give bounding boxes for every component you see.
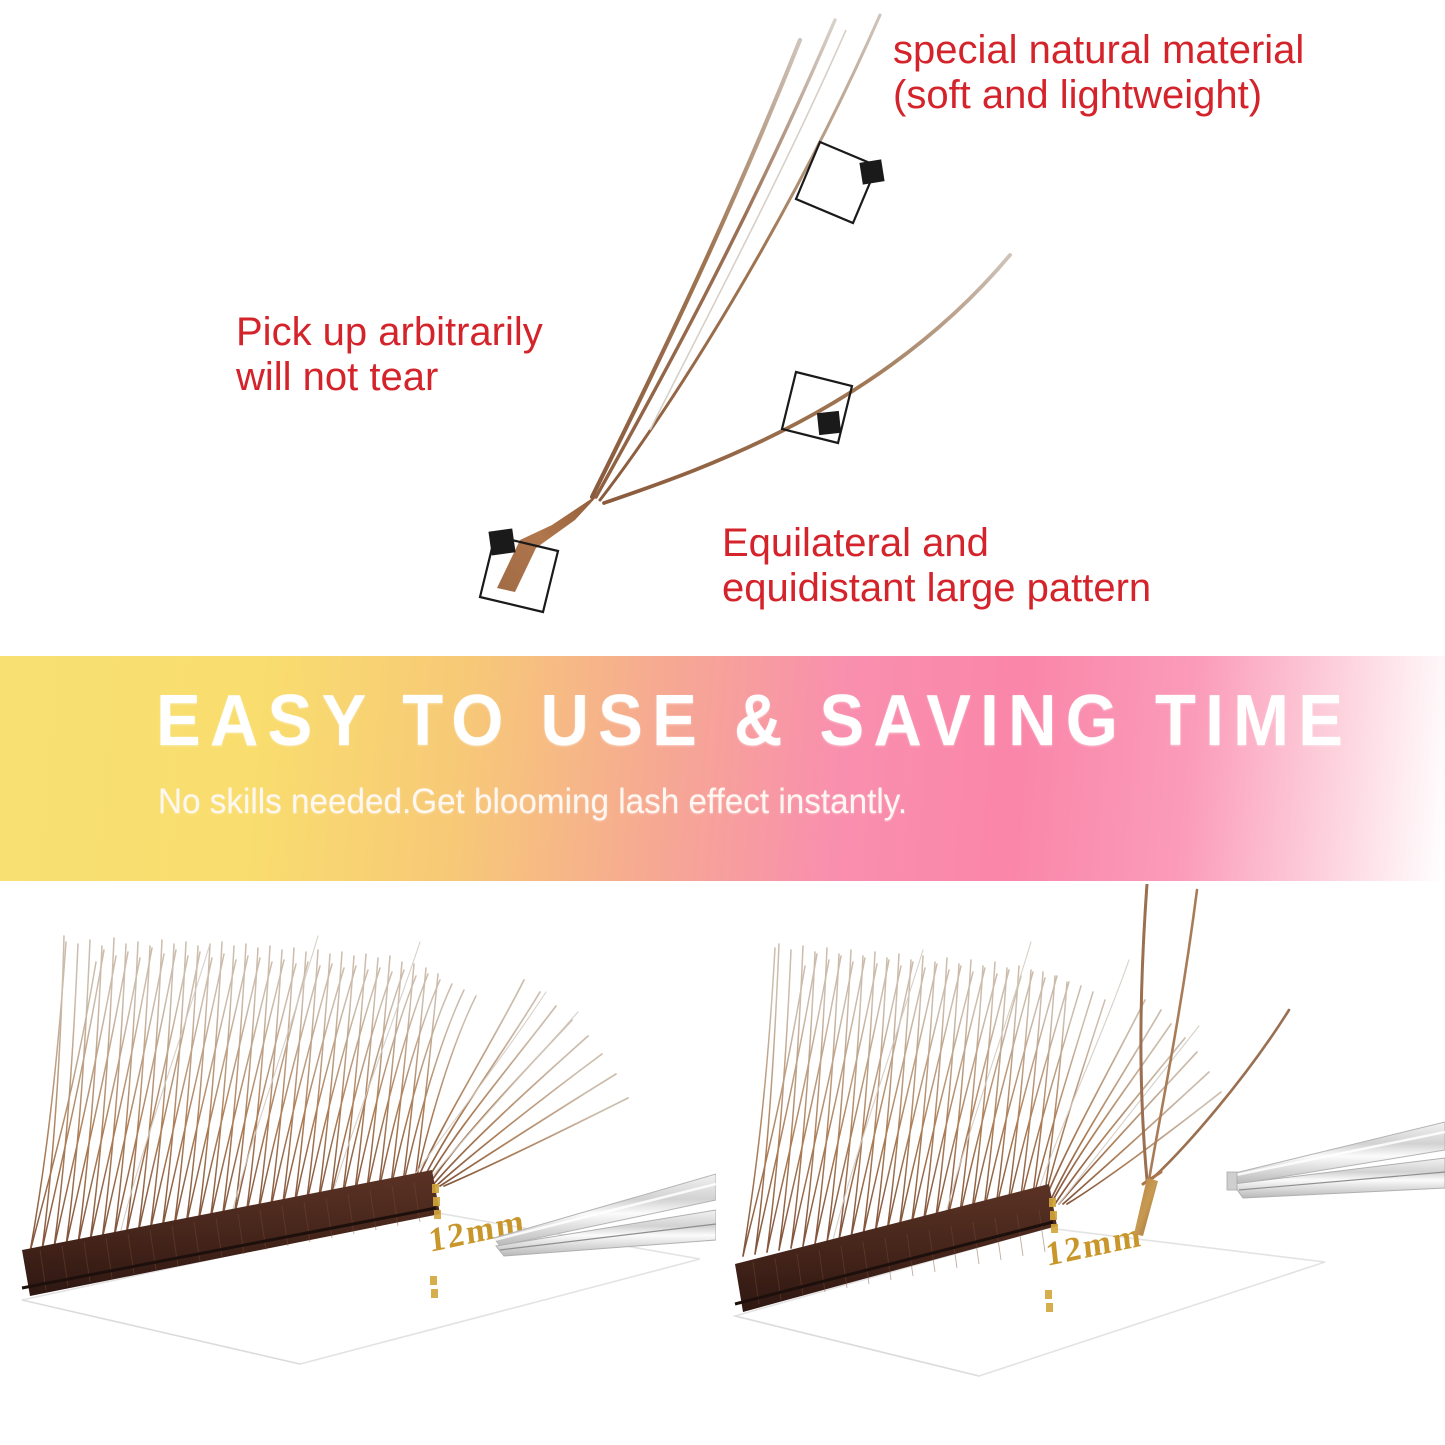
callout-pick-up-arbitrarily: Pick up arbitrarily will not tear [236,310,543,400]
photo-lash-tray-with-tweezers: 12mm [0,884,716,1445]
banner-subtitle: No skills needed.Get blooming lash effec… [158,782,907,822]
photo-divider [716,884,729,1445]
lash-tray-scene-left: 12mm [0,884,716,1445]
marker-upper-fiber [796,142,885,223]
top-feature-section: special natural material (soft and light… [0,0,1445,655]
banner-headline: EASY TO USE & SAVING TIME [156,680,1352,762]
callout-special-material: special natural material (soft and light… [893,28,1304,118]
callout-equilateral-pattern: Equilateral and equidistant large patter… [722,521,1151,611]
product-infographic: special natural material (soft and light… [0,0,1445,1445]
gradient-banner: EASY TO USE & SAVING TIME No skills need… [0,656,1445,881]
marker-mid-fiber [782,372,852,443]
lash-tray-scene-right: 12mm [729,884,1445,1445]
photo-lash-tray-picking-fan: 12mm [729,884,1445,1445]
